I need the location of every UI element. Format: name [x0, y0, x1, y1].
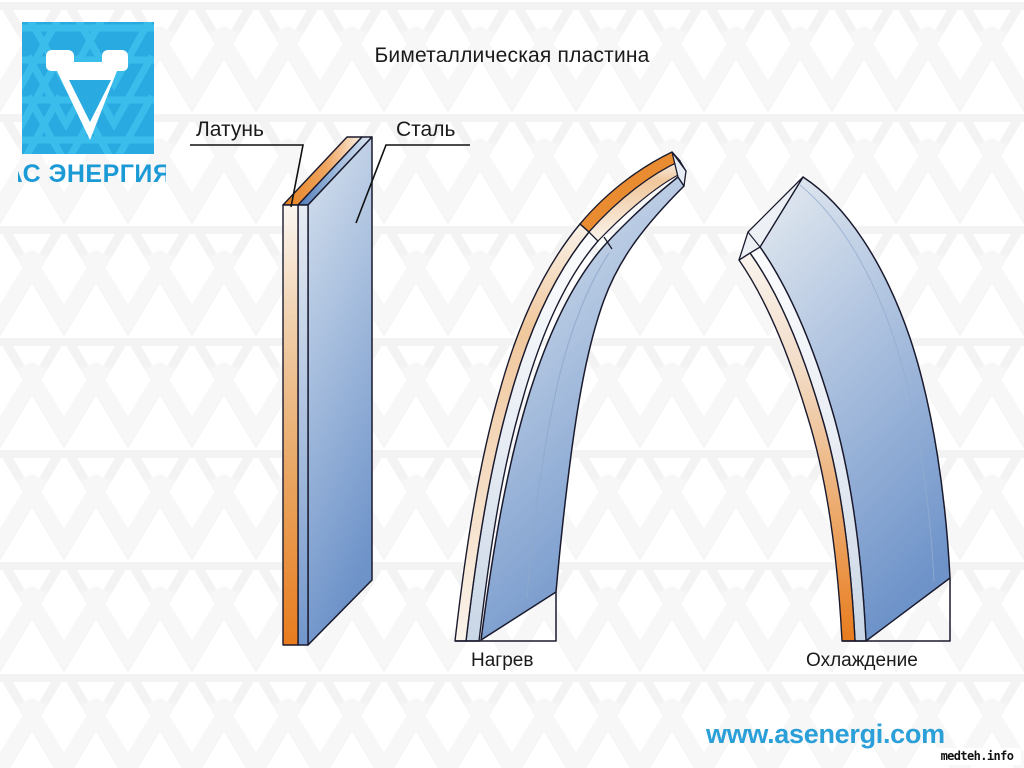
straight-plate-brass-edge	[283, 205, 298, 645]
label-heating: Нагрев	[471, 650, 533, 672]
label-steel: Сталь	[396, 118, 455, 142]
label-cooling: Охлаждение	[806, 650, 918, 672]
straight-plate-steel-edge	[298, 205, 308, 645]
leader-steel	[356, 145, 470, 223]
figure-heated-plate	[455, 152, 686, 641]
straight-plate-steel-face	[308, 137, 372, 645]
leader-brass	[190, 145, 303, 207]
site-url-link[interactable]: www.asenergi.com	[706, 719, 945, 750]
slide-canvas: АС ЭНЕРГИЯ	[0, 0, 1024, 768]
figure-straight-plate	[283, 137, 372, 645]
label-brass: Латунь	[196, 118, 264, 142]
figure-cooled-plate	[739, 177, 950, 641]
page-title: Биметаллическая пластина	[0, 44, 1024, 68]
watermark-medteh: medteh.info	[933, 748, 1021, 765]
